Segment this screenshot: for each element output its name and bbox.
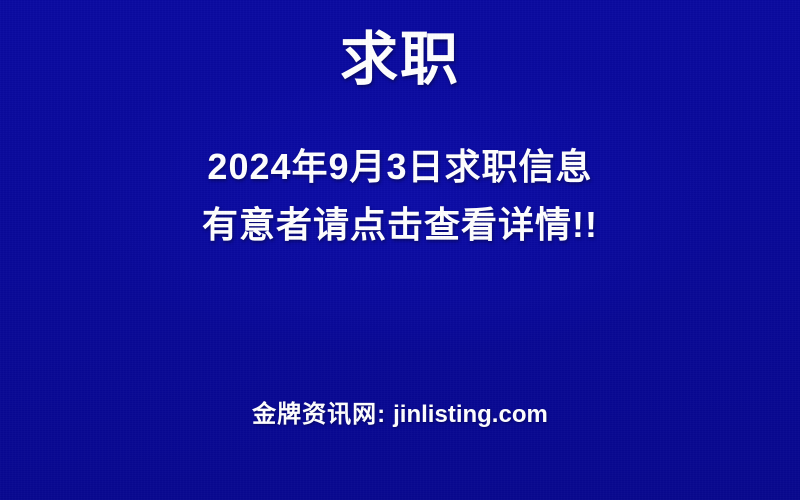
- poster-body: 2024年9月3日求职信息 有意者请点击查看详情!!: [0, 138, 800, 254]
- brand-name-label: 金牌资讯网:: [252, 401, 386, 428]
- call-to-action-line: 有意者请点击查看详情!!: [0, 196, 800, 254]
- page-title: 求职: [0, 24, 800, 96]
- brand-website-url[interactable]: jinlisting.com: [393, 401, 548, 428]
- posting-date-line: 2024年9月3日求职信息: [0, 138, 800, 196]
- footer-brand: 金牌资讯网: jinlisting.com: [0, 400, 800, 430]
- job-posting-poster: 求职 2024年9月3日求职信息 有意者请点击查看详情!! 金牌资讯网: jin…: [0, 0, 800, 500]
